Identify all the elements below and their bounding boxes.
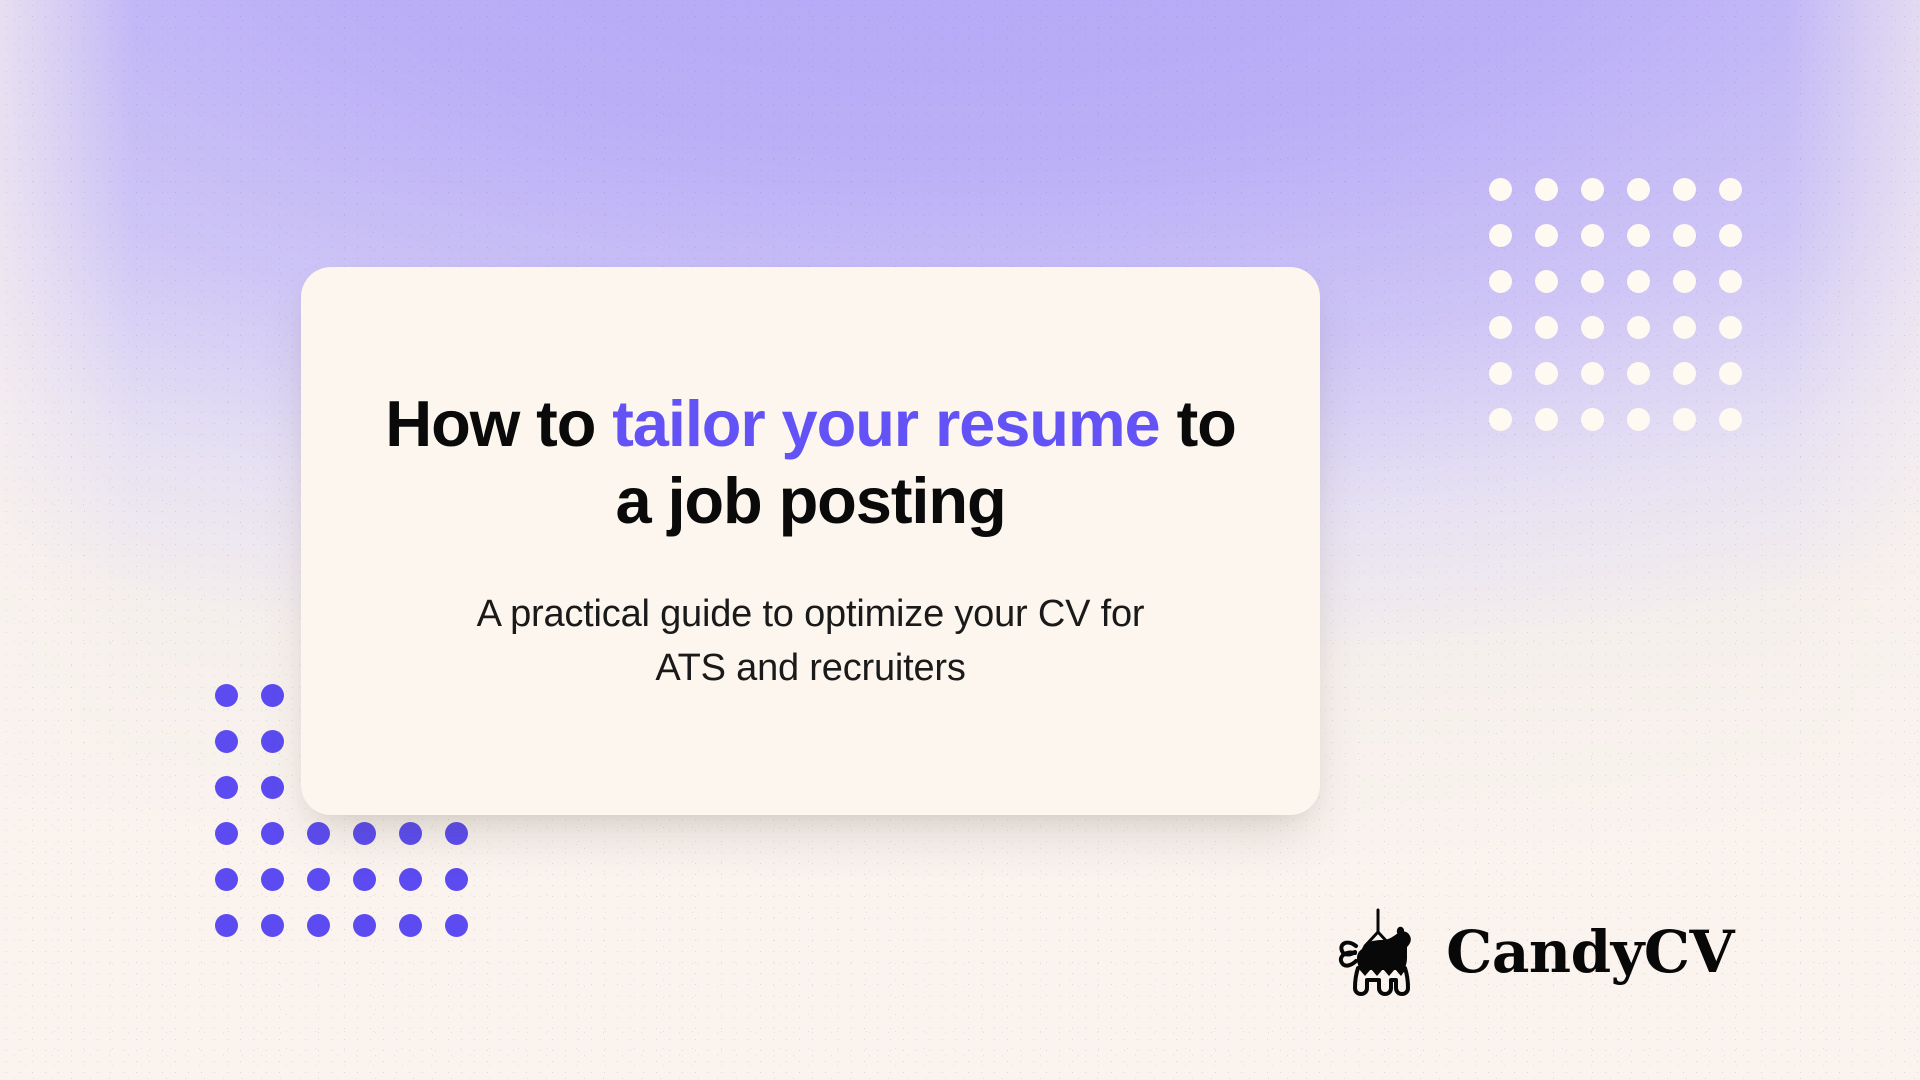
dot bbox=[1535, 178, 1558, 201]
dot bbox=[215, 914, 238, 937]
dot bbox=[445, 914, 468, 937]
dot bbox=[1627, 224, 1650, 247]
dot bbox=[1673, 362, 1696, 385]
dot bbox=[1719, 362, 1742, 385]
dot bbox=[399, 914, 422, 937]
dot bbox=[1719, 316, 1742, 339]
dot bbox=[445, 822, 468, 845]
dot bbox=[307, 822, 330, 845]
hero-card: How to tailor your resume to a job posti… bbox=[301, 267, 1320, 815]
dot bbox=[1627, 270, 1650, 293]
dot bbox=[1627, 362, 1650, 385]
hero-card-content: How to tailor your resume to a job posti… bbox=[301, 386, 1320, 695]
dot bbox=[215, 868, 238, 891]
page-title-accent: tailor your resume bbox=[612, 387, 1159, 460]
dot bbox=[1581, 224, 1604, 247]
dot bbox=[1489, 408, 1512, 431]
dot bbox=[261, 914, 284, 937]
dot bbox=[215, 776, 238, 799]
dot bbox=[353, 914, 376, 937]
page-title-segment-1: How to bbox=[385, 387, 612, 460]
pinata-icon bbox=[1334, 906, 1430, 998]
dot bbox=[1489, 178, 1512, 201]
dot bbox=[1673, 224, 1696, 247]
dot bbox=[215, 822, 238, 845]
page-subtitle: A practical guide to optimize your CV fo… bbox=[471, 588, 1151, 696]
dot bbox=[1535, 224, 1558, 247]
dot bbox=[353, 868, 376, 891]
dot bbox=[1673, 178, 1696, 201]
dot bbox=[261, 868, 284, 891]
dot bbox=[1673, 408, 1696, 431]
decorative-dot-grid-top-right bbox=[1489, 178, 1742, 431]
dot bbox=[1581, 362, 1604, 385]
dot bbox=[1535, 316, 1558, 339]
dot bbox=[1535, 270, 1558, 293]
dot bbox=[1489, 362, 1512, 385]
dot bbox=[1673, 316, 1696, 339]
dot bbox=[261, 684, 284, 707]
dot bbox=[1627, 408, 1650, 431]
dot bbox=[1673, 270, 1696, 293]
dot bbox=[215, 730, 238, 753]
dot bbox=[1719, 408, 1742, 431]
dot bbox=[399, 822, 422, 845]
dot bbox=[307, 914, 330, 937]
dot bbox=[1581, 270, 1604, 293]
dot bbox=[1581, 408, 1604, 431]
page-title: How to tailor your resume to a job posti… bbox=[381, 386, 1241, 539]
dot bbox=[1489, 224, 1512, 247]
dot bbox=[1719, 270, 1742, 293]
brand-logo: CandyCV bbox=[1334, 906, 1734, 998]
dot bbox=[1489, 270, 1512, 293]
dot bbox=[1489, 316, 1512, 339]
dot bbox=[261, 822, 284, 845]
dot bbox=[1719, 224, 1742, 247]
dot bbox=[261, 776, 284, 799]
dot bbox=[261, 730, 284, 753]
brand-wordmark: CandyCV bbox=[1446, 923, 1734, 981]
dot bbox=[445, 868, 468, 891]
dot bbox=[1627, 178, 1650, 201]
dot bbox=[1535, 408, 1558, 431]
dot bbox=[1719, 178, 1742, 201]
dot bbox=[215, 684, 238, 707]
dot bbox=[1535, 362, 1558, 385]
dot bbox=[1581, 178, 1604, 201]
dot bbox=[307, 868, 330, 891]
dot bbox=[399, 868, 422, 891]
dot bbox=[1627, 316, 1650, 339]
dot bbox=[353, 822, 376, 845]
dot bbox=[1581, 316, 1604, 339]
